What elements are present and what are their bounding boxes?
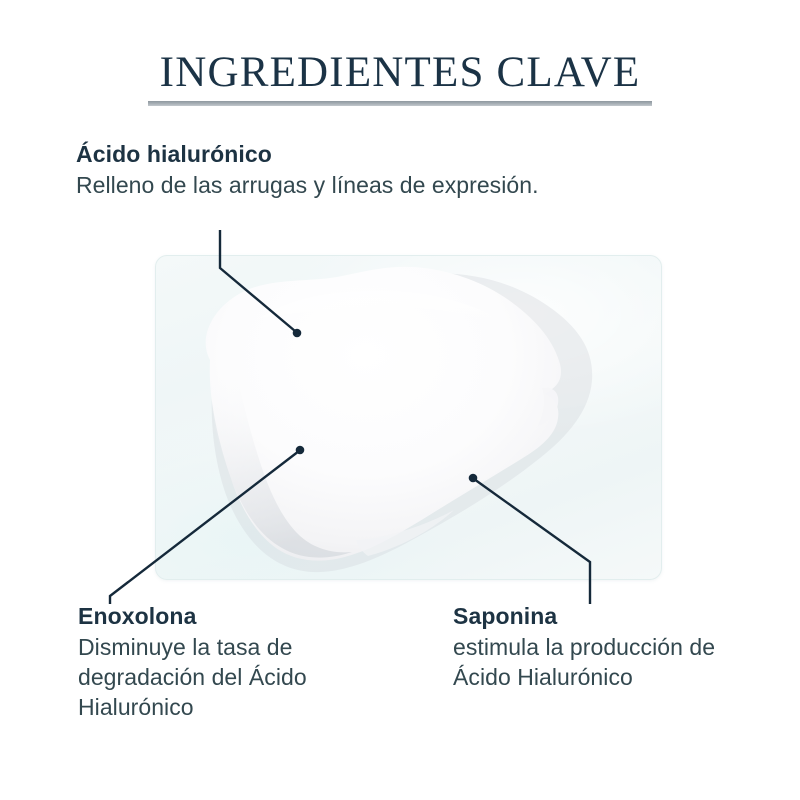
product-card xyxy=(155,255,662,580)
callout-hialuronico: Ácido hialurónico Relleno de las arrugas… xyxy=(76,140,736,201)
ingredients-infographic: INGREDIENTES CLAVE xyxy=(0,0,800,800)
title-underline xyxy=(148,101,652,106)
callout-heading-enoxolona: Enoxolona xyxy=(78,602,408,631)
callout-body-enoxolona: Disminuye la tasa de degradación del Áci… xyxy=(78,633,408,723)
callout-enoxolona: Enoxolona Disminuye la tasa de degradaci… xyxy=(78,602,408,722)
callout-heading-saponina: Saponina xyxy=(453,602,753,631)
callout-heading-hialuronico: Ácido hialurónico xyxy=(76,140,736,169)
callout-body-saponina: estimula la producción de Ácido Hialurón… xyxy=(453,633,753,693)
page-title: INGREDIENTES CLAVE xyxy=(0,50,800,95)
callout-saponina: Saponina estimula la producción de Ácido… xyxy=(453,602,753,693)
card-sheen xyxy=(156,256,661,579)
title-block: INGREDIENTES CLAVE xyxy=(0,50,800,95)
callout-body-hialuronico: Relleno de las arrugas y líneas de expre… xyxy=(76,171,736,201)
